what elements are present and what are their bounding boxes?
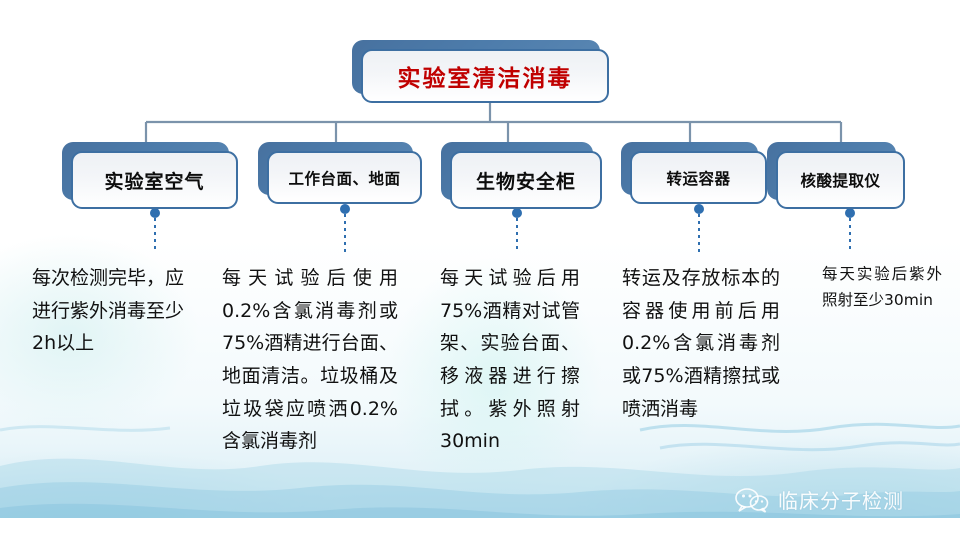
category-label: 核酸提取仪 [800,169,880,191]
detail-text-worktop-floor: 每天试验后使用0.2%含氯消毒剂或75%酒精进行台面、地面清洁。垃圾桶及垃圾袋应… [222,262,398,458]
bottom-white-bar [0,518,960,540]
category-box-face: 生物安全柜 [450,151,602,209]
category-box-air[interactable]: 实验室空气 [62,142,229,200]
page-title: 实验室清洁消毒 [398,59,573,93]
watermark: 临床分子检测 [735,485,904,514]
category-box-worktop-floor[interactable]: 工作台面、地面 [258,142,413,195]
category-box-biosafety-cabinet[interactable]: 生物安全柜 [441,142,593,200]
wechat-bubble-icon [735,487,769,513]
detail-text-transport-container: 转运及存放标本的容器使用前后用0.2%含氯消毒剂或75%酒精擦拭或喷洒消毒 [622,262,780,425]
category-box-face: 核酸提取仪 [776,151,905,209]
title-box-face: 实验室清洁消毒 [361,49,609,103]
category-box-face: 实验室空气 [71,151,238,209]
detail-text-biosafety-cabinet: 每天试验后用75%酒精对试管架、实验台面、移液器进行擦拭。紫外照射30min [440,262,580,458]
category-label: 实验室空气 [104,167,204,194]
detail-text-air: 每次检测完毕，应进行紫外消毒至少2h以上 [32,262,184,360]
slide-canvas: 实验室清洁消毒 实验室空气 工作台面、地面 生物安全柜 转运容器 核酸提取仪 每… [0,0,960,540]
category-box-face: 工作台面、地面 [267,151,422,204]
category-box-transport-container[interactable]: 转运容器 [621,142,758,195]
category-label: 生物安全柜 [476,167,576,194]
category-box-nucleic-acid-extractor[interactable]: 核酸提取仪 [767,142,896,200]
category-label: 转运容器 [666,167,730,189]
detail-text-nucleic-acid-extractor: 每天实验后紫外照射至少30min [822,262,942,313]
watermark-text: 临床分子检测 [778,485,904,514]
category-label: 工作台面、地面 [288,167,400,189]
diagram-title-box[interactable]: 实验室清洁消毒 [352,40,600,94]
category-box-face: 转运容器 [630,151,767,204]
